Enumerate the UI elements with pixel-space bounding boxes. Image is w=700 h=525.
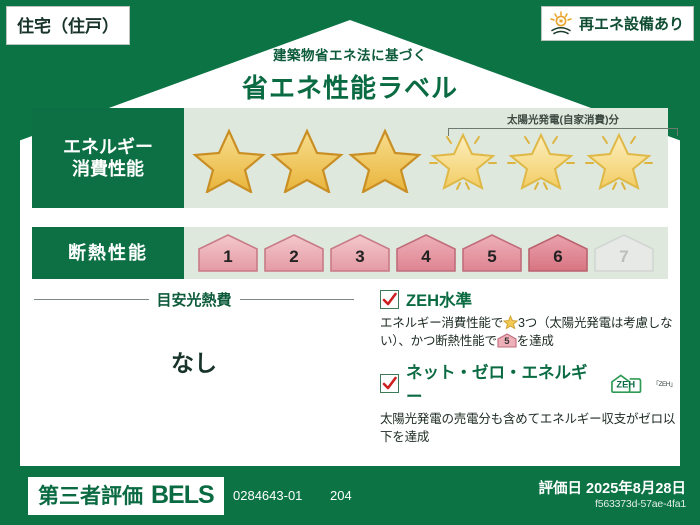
label-subtitle: 建築物省エネ法に基づく xyxy=(0,44,700,64)
insulation-grade-value: 7 xyxy=(619,247,628,274)
star-rating xyxy=(184,108,668,208)
sequence-number: 204 xyxy=(330,488,352,503)
energy-performance-label: 住宅（住戸） 再エネ設備あり 建築物省エネ法に基づく 省エネ性能ラベル xyxy=(0,0,700,525)
insulation-grade-value: 3 xyxy=(355,247,364,274)
criterion-zeh-standard: ZEH水準 エネルギー消費性能で3つ（太陽光発電は考慮しない）、かつ断熱性能で5… xyxy=(380,287,676,350)
insulation-grade-7: 7 xyxy=(592,232,656,274)
star-icon xyxy=(190,121,268,195)
label-title: 省エネ性能ラベル xyxy=(0,68,700,105)
insulation-grade-value: 5 xyxy=(487,247,496,274)
energy-performance-label-panel: エネルギー 消費性能 xyxy=(32,108,184,208)
criterion-net-zero-energy-head: ネット・ゼロ・エネルギー ZEH 「ZEH」 xyxy=(380,359,676,407)
insulation-performance-label-panel: 断熱性能 xyxy=(32,227,184,279)
criterion-zeh-standard-head: ZEH水準 xyxy=(380,287,676,311)
divider-left xyxy=(34,299,149,300)
housing-type-tag: 住宅（住戸） xyxy=(6,6,130,45)
star-icon-solar xyxy=(502,121,580,195)
renewable-equipment-badge: 再エネ設備あり xyxy=(541,6,694,41)
criterion-zeh-standard-title: ZEH水準 xyxy=(406,287,472,311)
evaluation-date: 評価日 2025年8月28日 xyxy=(539,477,686,498)
criterion-text-part1: エネルギー消費性能で xyxy=(380,316,503,330)
insulation-grade-value: 6 xyxy=(553,247,562,274)
renewable-badge-label: 再エネ設備あり xyxy=(579,13,684,34)
insulation-grade-4: 4 xyxy=(394,232,458,274)
checkbox-net-zero-energy[interactable] xyxy=(380,374,399,393)
insulation-performance-row: 断熱性能 1 xyxy=(32,227,668,279)
solar-sun-icon xyxy=(548,11,574,35)
insulation-grade-value: 2 xyxy=(289,247,298,274)
criterion-net-zero-energy-title: ネット・ゼロ・エネルギー xyxy=(406,359,601,407)
evaluation-id: f563373d-57ae-4fa1 xyxy=(595,498,686,510)
checkbox-zeh-standard[interactable] xyxy=(380,290,399,309)
criterion-text-part3: を達成 xyxy=(517,334,554,348)
energy-performance-scale: 太陽光発電(自家消費)分 xyxy=(184,108,668,208)
energy-performance-row: エネルギー 消費性能 太陽光発電(自家消費)分 xyxy=(32,108,668,208)
criterion-zeh-standard-body: エネルギー消費性能で3つ（太陽光発電は考慮しない）、かつ断熱性能で5を達成 xyxy=(380,314,676,350)
label-footer: 第三者評価 BELS 0284643-01 204 評価日 2025年8月28日… xyxy=(0,467,700,525)
title-block: 建築物省エネ法に基づく 省エネ性能ラベル xyxy=(0,44,700,105)
zeh-house-logo: ZEH xyxy=(608,373,645,394)
utility-cost-heading-label: 目安光熱費 xyxy=(157,289,232,310)
star-icon-solar xyxy=(424,121,502,195)
bels-logo-text: BELS xyxy=(151,481,214,510)
energy-label-line2: 消費性能 xyxy=(72,158,144,181)
star-icon xyxy=(346,121,424,195)
insulation-performance-scale: 1 2 3 xyxy=(184,227,668,279)
insulation-grade-value: 1 xyxy=(223,247,232,274)
insulation-grade-2: 2 xyxy=(262,232,326,274)
zeh-logo-subtext: 「ZEH」 xyxy=(653,378,677,388)
certificate-number: 0284643-01 xyxy=(233,488,302,503)
insulation-grade-inline-value: 5 xyxy=(497,335,517,349)
insulation-grade-6: 6 xyxy=(526,232,590,274)
utility-cost-value: なし xyxy=(34,344,354,378)
svg-text:ZEH: ZEH xyxy=(616,379,635,389)
utility-cost-heading: 目安光熱費 xyxy=(34,289,354,310)
energy-label-line1: エネルギー xyxy=(63,136,153,159)
bels-third-party-label: 第三者評価 xyxy=(38,480,143,510)
insulation-grade-5: 5 xyxy=(460,232,524,274)
criterion-net-zero-energy-body: 太陽光発電の売電分も含めてエネルギー収支がゼロ以下を達成 xyxy=(380,410,676,446)
star-icon xyxy=(268,121,346,195)
bels-certification-box: 第三者評価 BELS xyxy=(28,477,224,515)
star-icon-solar xyxy=(580,121,658,195)
criteria-block: ZEH水準 エネルギー消費性能で3つ（太陽光発電は考慮しない）、かつ断熱性能で5… xyxy=(380,287,676,456)
insulation-grade-3: 3 xyxy=(328,232,392,274)
insulation-grade-1: 1 xyxy=(196,232,260,274)
divider-right xyxy=(240,299,355,300)
insulation-grade-value: 4 xyxy=(421,247,430,274)
criterion-net-zero-energy: ネット・ゼロ・エネルギー ZEH 「ZEH」 太陽光発電の売電分も含めてエネルギ… xyxy=(380,359,676,446)
insulation-grade-inline-badge: 5 xyxy=(497,333,517,348)
insulation-label: 断熱性能 xyxy=(68,242,148,265)
star-icon-inline xyxy=(503,315,518,329)
utility-cost-block: 目安光熱費 なし xyxy=(34,289,354,378)
